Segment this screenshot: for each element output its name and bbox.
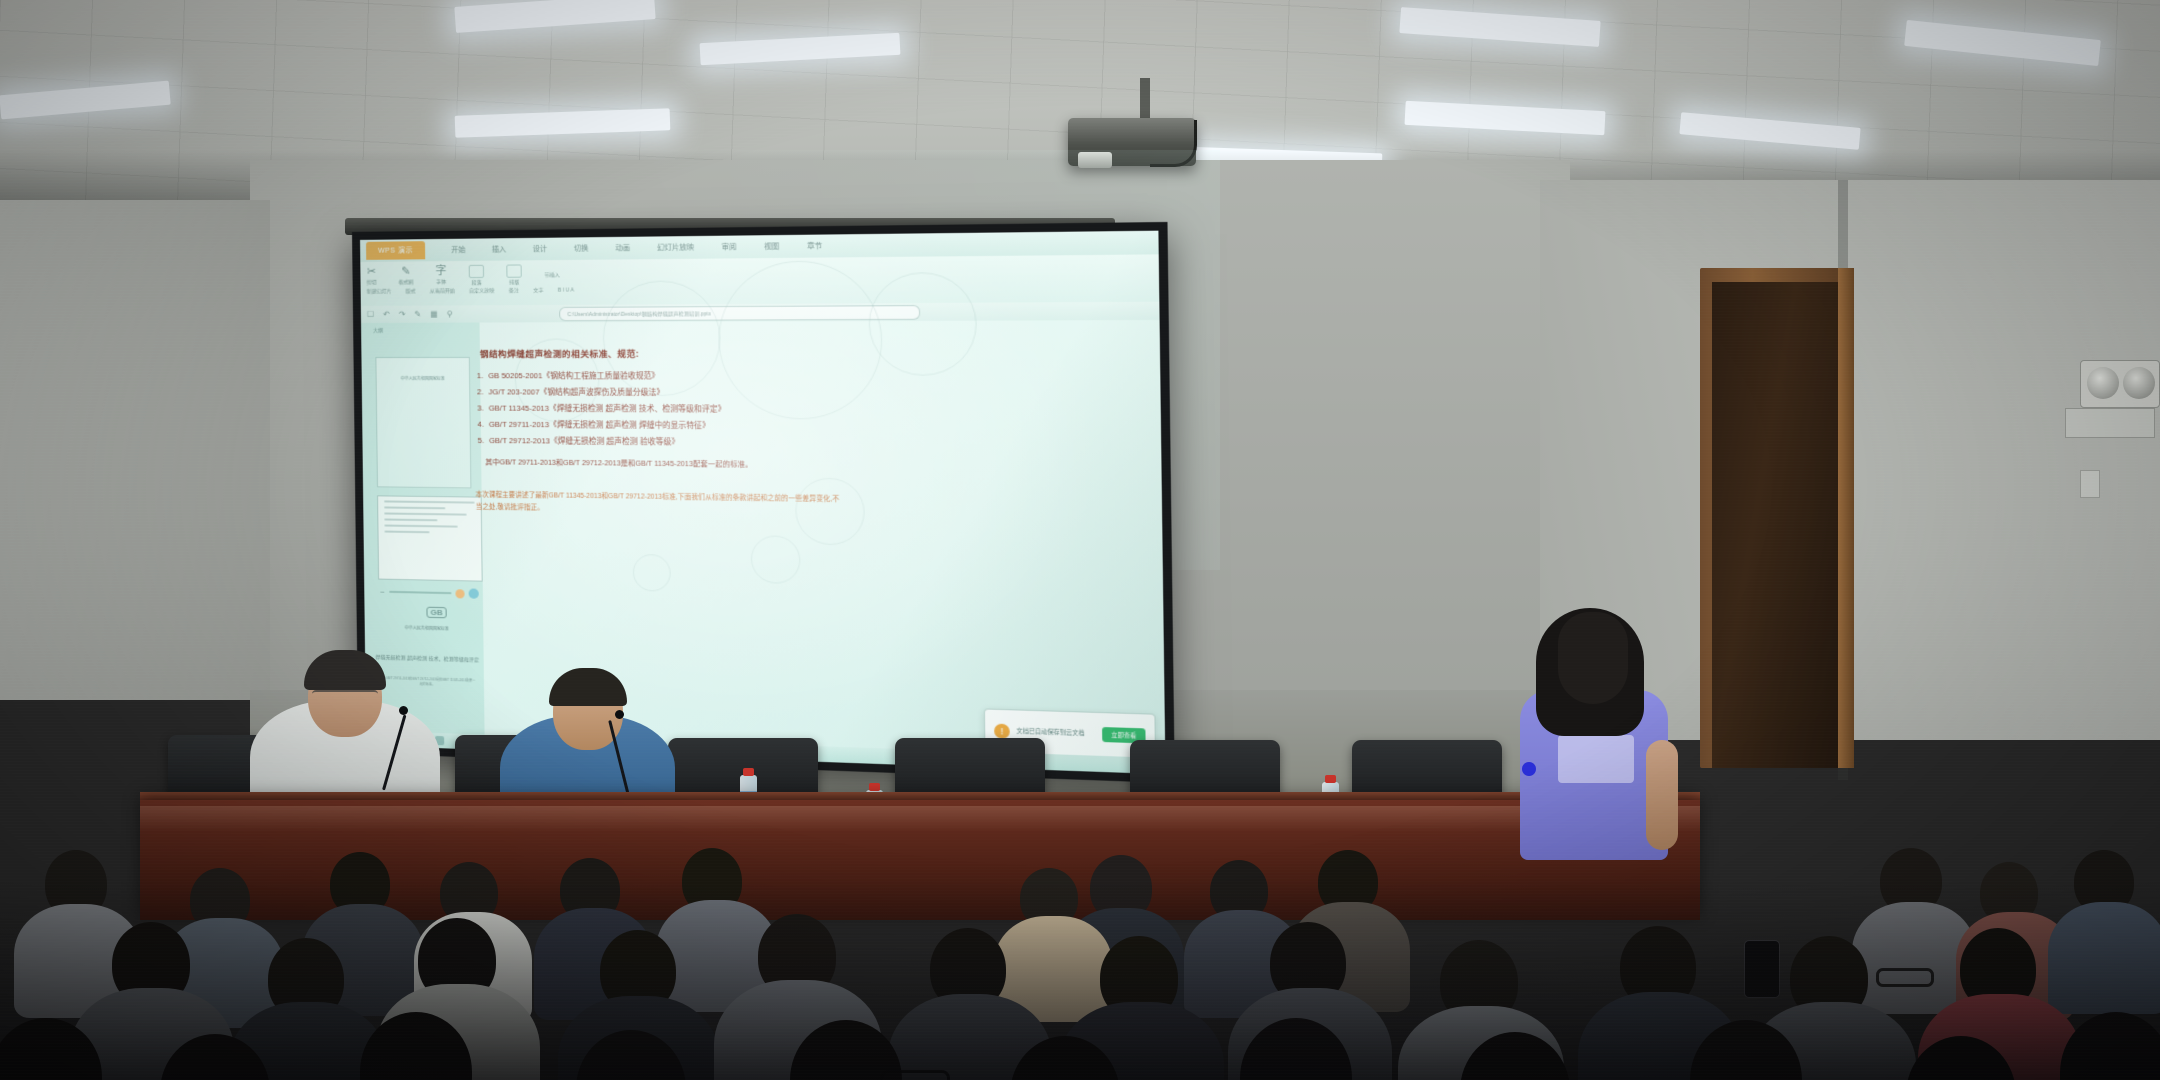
- gb-standard-logo: GB: [426, 607, 446, 619]
- wps-presentation-window: WPS 演示 开始 插入 设计 切换 动画 幻灯片放映 审阅 视图 章节 ✂: [360, 231, 1165, 775]
- tab-start[interactable]: 开始: [451, 245, 465, 255]
- list-item: 1. GB 50205-2001《钢结构工程施工质量验收规范》: [474, 368, 841, 385]
- ribbon-layout-button[interactable]: 排版: [506, 264, 522, 285]
- ribbon-paragraph-label: 段落: [471, 279, 481, 286]
- standards-list: 1. GB 50205-2001《钢结构工程施工质量验收规范》 2. JG/T …: [474, 368, 842, 452]
- pen-icon[interactable]: ✎: [414, 310, 421, 319]
- tab-view[interactable]: 视图: [764, 241, 779, 252]
- search-icon[interactable]: ⚲: [447, 310, 453, 319]
- side-door[interactable]: [1712, 282, 1838, 768]
- ribbon-new-slide-label[interactable]: 新建幻灯片: [367, 288, 392, 295]
- audience-torso: [2048, 902, 2160, 1014]
- list-item-text: GB 50205-2001《钢结构工程施工质量验收规范》: [488, 368, 659, 385]
- ribbon-paragraph-button[interactable]: 段落: [469, 265, 484, 286]
- wall-mounted-panel: [2065, 408, 2155, 438]
- list-item-text: GB/T 29712-2013《焊缝无损检测 超声检测 验收等级》: [489, 433, 679, 451]
- wall-speaker: [2080, 360, 2160, 408]
- zoom-slider-handle[interactable]: [455, 589, 464, 598]
- ribbon-format-painter-label: 格式刷: [398, 279, 413, 286]
- list-item: 5. GB/T 29712-2013《焊缝无损检测 超声检测 验收等级》: [475, 433, 842, 452]
- grid-icon[interactable]: ▦: [430, 310, 438, 319]
- thumbnail-text-line: [384, 531, 429, 534]
- projector-cable: [1150, 120, 1197, 167]
- tab-wps-presentation[interactable]: WPS 演示: [366, 241, 425, 260]
- save-icon[interactable]: ☐: [367, 310, 374, 319]
- ribbon-cut-label: 剪切: [366, 279, 376, 286]
- scissors-icon: ✂: [367, 267, 376, 278]
- tab-slideshow[interactable]: 幻灯片放映: [657, 242, 694, 253]
- projector-mount-pole: [1140, 78, 1150, 120]
- zoom-out-icon[interactable]: −: [380, 587, 385, 596]
- ribbon-format-painter-button[interactable]: ✎ 格式刷: [398, 266, 413, 285]
- slide-thumbnail-secondary[interactable]: [377, 495, 483, 581]
- ribbon-cut-button[interactable]: ✂ 剪切: [366, 267, 376, 286]
- list-item-text: JG/T 203-2007《钢结构超声波探伤及质量分级法》: [488, 384, 664, 401]
- audience-seating: [0, 700, 2160, 1080]
- zoom-fit-button[interactable]: [469, 588, 479, 598]
- ribbon-font-label: 字体: [436, 278, 446, 285]
- door-jamb: [1838, 268, 1854, 768]
- thumbnail-text-line: [384, 518, 437, 521]
- ribbon-layout-label: 排版: [509, 279, 519, 286]
- ribbon-slide-layout-label[interactable]: 版式: [406, 288, 416, 295]
- thumbnail-text-line: [384, 500, 475, 503]
- slide-thumbnail-caption: 中华人民共和国国家标准: [389, 376, 457, 382]
- ribbon-text-label[interactable]: 文字: [533, 287, 543, 294]
- left-wall: [0, 200, 270, 700]
- raised-phone: [1744, 940, 1780, 998]
- tab-insert[interactable]: 插入: [492, 244, 506, 254]
- standing-attendee-right-hair-front: [1558, 612, 1628, 704]
- list-item-number: 3.: [474, 400, 483, 416]
- layout-box-icon: [506, 264, 521, 277]
- projector-lens-icon: [1078, 152, 1112, 168]
- outline-pane-header: 大纲: [361, 323, 480, 334]
- list-item-text: GB/T 29711-2013《焊缝无损检测 超声检测 焊缝中的显示特征》: [489, 417, 710, 435]
- list-item-number: 2.: [474, 384, 483, 400]
- speaker-cone-icon: [2087, 367, 2119, 399]
- tab-animation[interactable]: 动画: [615, 243, 630, 253]
- audience-glasses: [880, 1070, 950, 1080]
- slide-heading: 钢结构焊缝超声检测的相关标准、规范:: [480, 347, 815, 361]
- list-item-number: 4.: [475, 417, 484, 433]
- audience-head: [2060, 1012, 2160, 1080]
- conference-room-photo: WPS 演示 开始 插入 设计 切换 动画 幻灯片放映 审阅 视图 章节 ✂: [0, 0, 2160, 1080]
- list-item: 3. GB/T 11345-2013《焊缝无损检测 超声检测 技术、检测等级和评…: [474, 400, 841, 418]
- thumbnail-text-line: [384, 512, 466, 515]
- list-item-text: GB/T 11345-2013《焊缝无损检测 超声检测 技术、检测等级和评定》: [489, 400, 726, 417]
- paintbrush-icon: ✎: [401, 266, 410, 277]
- speaker-cone-icon: [2123, 367, 2155, 399]
- ribbon-notes-label[interactable]: 备注: [509, 287, 519, 294]
- ribbon-section-label: 节插入: [544, 271, 560, 278]
- thumbnail-text-line: [384, 506, 445, 509]
- paragraph-box-icon: [469, 265, 484, 278]
- tab-design[interactable]: 设计: [533, 244, 547, 254]
- ribbon-font-button[interactable]: 字 字体: [435, 266, 446, 285]
- decor-bubble: [868, 272, 977, 376]
- redo-icon[interactable]: ↷: [399, 310, 406, 319]
- standard-title-line: 焊缝无损检测 超声检测 技术、检测等级和评定: [375, 654, 480, 665]
- slide-thumbnail[interactable]: 中华人民共和国国家标准: [375, 357, 471, 488]
- undo-icon[interactable]: ↶: [383, 310, 390, 319]
- ribbon-from-current-label[interactable]: 从当前开始: [430, 287, 455, 294]
- audience-glasses: [1876, 968, 1934, 987]
- ribbon-section-button[interactable]: 节插入: [544, 271, 560, 278]
- light-switch[interactable]: [2080, 470, 2100, 498]
- zoom-slider[interactable]: −: [380, 586, 479, 600]
- standard-subtitle-line: 其中GB/T 29711-2013和GB/T 29712-2013是和GB/T …: [379, 676, 476, 689]
- thumbnail-text-line: [384, 525, 458, 528]
- standard-issuer-line: 中华人民共和国国家标准: [375, 624, 480, 634]
- slide-closing-paragraph: 本次课程主要讲述了最新GB/T 11345-2013和GB/T 29712-20…: [475, 489, 843, 518]
- list-item-number: 1.: [474, 368, 483, 384]
- ribbon-custom-show-label[interactable]: 自定义放映: [469, 287, 494, 294]
- ribbon-text-format-group[interactable]: B I U A: [558, 287, 574, 293]
- font-icon: 字: [435, 266, 446, 277]
- zoom-slider-track[interactable]: [389, 591, 452, 594]
- tab-review[interactable]: 审阅: [721, 242, 736, 253]
- list-item-number: 5.: [475, 433, 484, 449]
- list-item: 2. JG/T 203-2007《钢结构超声波探伤及质量分级法》: [474, 384, 841, 401]
- decor-bubble: [751, 535, 801, 584]
- decor-bubble: [633, 554, 671, 592]
- tab-transition[interactable]: 切换: [574, 243, 589, 253]
- tab-section[interactable]: 章节: [807, 241, 822, 252]
